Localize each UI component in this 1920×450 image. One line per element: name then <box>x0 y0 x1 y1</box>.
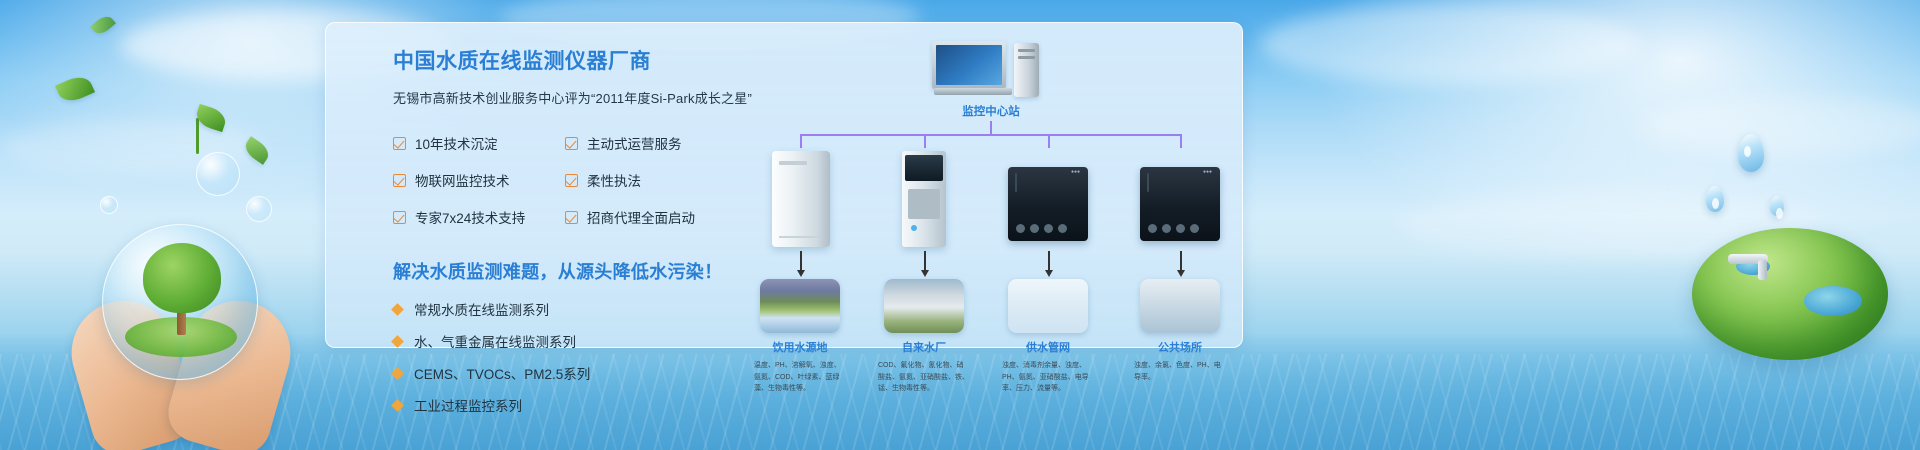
monitor-icon <box>932 41 1006 89</box>
bubble-decoration <box>196 152 240 196</box>
earth-lake <box>1804 286 1862 316</box>
analyzer-body <box>908 189 940 219</box>
faucet-icon <box>1714 246 1778 292</box>
controller-panel-icon: ●●● <box>1008 167 1088 241</box>
cabinet-analyzer-icon <box>772 151 830 247</box>
diamond-bullet-icon <box>391 303 404 316</box>
check-item: 物联网监控技术 <box>393 170 565 190</box>
connector-drop-line <box>800 134 802 148</box>
scene-desc: COD、氟化物、氰化物、硝酸盐、氨氮、亚硝酸盐、铁、锰、生物毒性等。 <box>876 360 972 395</box>
scene-title: 饮用水源地 <box>752 339 848 355</box>
controller-panel-icon: ●●● <box>1140 167 1220 241</box>
analyzer-head <box>905 155 943 181</box>
leaf-icon <box>90 13 116 38</box>
lcd-display <box>1147 173 1149 192</box>
scene-desc: 温度、PH、溶解氧、浊度、氨氮、COD、叶绿素、蓝绿藻、生物毒性等。 <box>752 360 848 395</box>
water-bubble-globe <box>102 224 258 380</box>
connector-drop-line <box>924 134 926 148</box>
scene-title: 供水管网 <box>1000 339 1096 355</box>
green-earth-illustration <box>1692 228 1888 368</box>
check-label: 招商代理全面启动 <box>587 207 695 227</box>
bubble-decoration <box>100 196 118 214</box>
device-brand-mark: ●●● <box>1203 169 1212 175</box>
arrow-down-icon <box>1048 251 1050 271</box>
scene-caption: 公共场所 浊度、余氯、色度、PH、电导率。 <box>1132 339 1228 383</box>
list-item-label: 常规水质在线监测系列 <box>414 299 549 319</box>
keypad <box>1148 224 1199 233</box>
monitoring-center-label: 监控中心站 <box>932 103 1050 119</box>
water-drop-icon <box>1706 186 1724 212</box>
list-item-label: CEMS、TVOCs、PM2.5系列 <box>414 363 590 383</box>
connector-drop-line <box>1180 134 1182 148</box>
scene-photo-waterworks <box>884 279 964 333</box>
scene-caption: 自来水厂 COD、氟化物、氰化物、硝酸盐、氨氮、亚硝酸盐、铁、锰、生物毒性等。 <box>876 339 972 395</box>
monitoring-center-computer-icon <box>932 41 1050 99</box>
diamond-bullet-icon <box>391 335 404 348</box>
list-item-label: 水、气重金属在线监测系列 <box>414 331 576 351</box>
list-item: 水、气重金属在线监测系列 <box>393 331 733 351</box>
hands-holding-tree-illustration <box>72 218 292 450</box>
checkbox-checked-icon <box>393 174 406 187</box>
analyzer-indicator <box>911 225 917 231</box>
cloud-decoration <box>1640 96 1920 156</box>
cloud-decoration <box>1260 4 1640 84</box>
arrow-down-icon <box>924 251 926 271</box>
faucet-spout <box>1758 260 1767 280</box>
tall-analyzer-icon <box>902 151 946 247</box>
device-controller-b: ●●● <box>1140 167 1220 241</box>
check-label: 物联网监控技术 <box>415 170 510 190</box>
checkbox-checked-icon <box>565 211 578 224</box>
scene-title: 自来水厂 <box>876 339 972 355</box>
check-item: 10年技术沉淀 <box>393 133 565 153</box>
checkbox-checked-icon <box>393 137 406 150</box>
arrow-down-icon <box>1180 251 1182 271</box>
device-water-cabinet <box>772 151 830 247</box>
check-item: 招商代理全面启动 <box>565 207 733 227</box>
checkbox-checked-icon <box>565 174 578 187</box>
page-title: 中国水质在线监测仪器厂商 <box>393 45 733 75</box>
diamond-bullet-icon <box>391 367 404 380</box>
sprout-icon <box>196 118 199 154</box>
check-label: 专家7x24技术支持 <box>415 207 525 227</box>
system-topology-diagram: 监控中心站 饮用水源地 温度、PH、溶解氧、浊度、氨氮、COD、叶绿素、蓝绿藻、… <box>756 33 1226 343</box>
checkbox-checked-icon <box>393 211 406 224</box>
connector-line-vertical <box>990 121 992 135</box>
monitor-stand <box>934 88 1012 95</box>
page-subtitle: 无锡市高新技术创业服务中心评为“2011年度Si-Park成长之星” <box>393 88 733 107</box>
leaf-icon <box>241 136 272 165</box>
scene-title: 公共场所 <box>1132 339 1228 355</box>
connector-drop-line <box>1048 134 1050 148</box>
left-text-column: 中国水质在线监测仪器厂商 无锡市高新技术创业服务中心评为“2011年度Si-Pa… <box>393 45 733 427</box>
connector-line-horizontal <box>800 134 1180 136</box>
scene-desc: 浊度、消毒剂余量、浊度、PH、氨氮、亚硝酸盐、电导率、压力、流量等。 <box>1000 360 1096 395</box>
check-label: 10年技术沉淀 <box>415 133 498 153</box>
check-item: 专家7x24技术支持 <box>393 207 565 227</box>
pc-tower-icon <box>1014 43 1039 97</box>
check-item: 柔性执法 <box>565 170 733 190</box>
device-controller-a: ●●● <box>1008 167 1088 241</box>
device-brand-mark: ●●● <box>1071 169 1080 175</box>
arrow-down-icon <box>800 251 802 271</box>
main-content-panel: 中国水质在线监测仪器厂商 无锡市高新技术创业服务中心评为“2011年度Si-Pa… <box>325 22 1243 348</box>
list-item: CEMS、TVOCs、PM2.5系列 <box>393 363 733 383</box>
water-drop-icon <box>1738 134 1764 172</box>
scene-caption: 供水管网 浊度、消毒剂余量、浊度、PH、氨氮、亚硝酸盐、电导率、压力、流量等。 <box>1000 339 1096 395</box>
keypad <box>1016 224 1067 233</box>
scene-desc: 浊度、余氯、色度、PH、电导率。 <box>1132 360 1228 383</box>
check-item: 主动式运营服务 <box>565 133 733 153</box>
list-item-label: 工业过程监控系列 <box>414 395 522 415</box>
list-item: 工业过程监控系列 <box>393 395 733 415</box>
leaf-icon <box>55 72 95 106</box>
check-label: 柔性执法 <box>587 170 641 190</box>
section-heading: 解决水质监测难题，从源头降低水污染！ <box>393 258 733 284</box>
scene-caption: 饮用水源地 温度、PH、溶解氧、浊度、氨氮、COD、叶绿素、蓝绿藻、生物毒性等。 <box>752 339 848 395</box>
diamond-bullet-icon <box>391 399 404 412</box>
water-drop-icon <box>1770 196 1784 216</box>
product-series-list: 常规水质在线监测系列 水、气重金属在线监测系列 CEMS、TVOCs、PM2.5… <box>393 299 733 415</box>
lcd-display <box>1015 173 1017 192</box>
scene-photo-pipeline <box>1008 279 1088 333</box>
feature-checklist: 10年技术沉淀 主动式运营服务 物联网监控技术 柔性执法 专家7x24技术支持 … <box>393 133 733 227</box>
scene-photo-river <box>760 279 840 333</box>
list-item: 常规水质在线监测系列 <box>393 299 733 319</box>
check-label: 主动式运营服务 <box>587 133 682 153</box>
scene-photo-public-place <box>1140 279 1220 333</box>
device-tall-analyzer <box>902 151 946 247</box>
tree-foliage-icon <box>143 243 221 313</box>
checkbox-checked-icon <box>565 137 578 150</box>
